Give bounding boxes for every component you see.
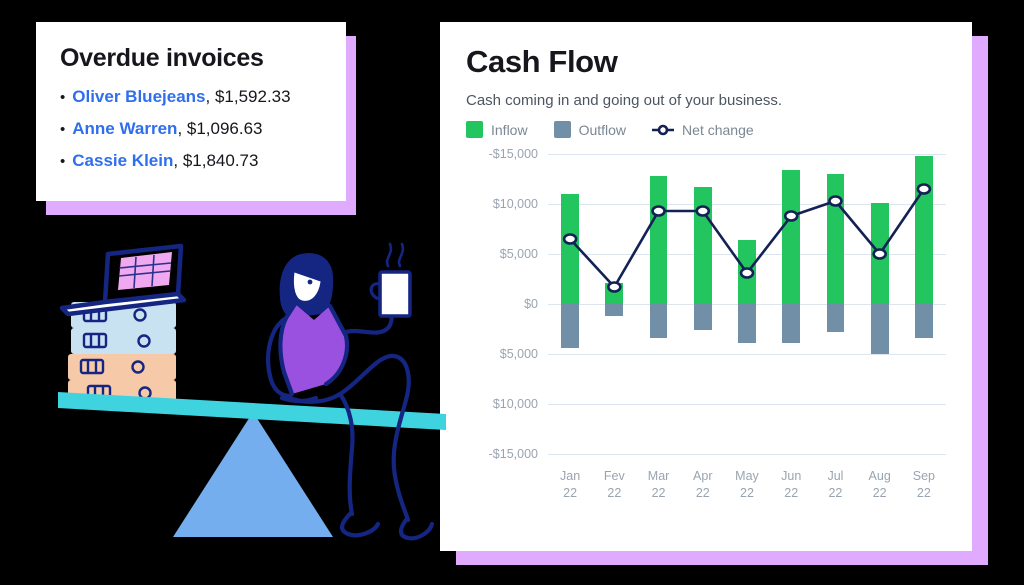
x-axis-tick-label: Fev22 [592, 468, 636, 502]
list-item[interactable]: • Cassie Klein , $1,840.73 [60, 151, 322, 171]
triangle-fulcrum-icon [173, 412, 333, 537]
net-change-point[interactable] [697, 207, 709, 216]
chart-legend: Inflow Outflow Net change [466, 121, 946, 138]
bullet-icon: • [60, 90, 65, 105]
gridline [548, 454, 946, 455]
x-axis-tick-label: Jun22 [769, 468, 813, 502]
y-axis-tick-label: $10,000 [493, 397, 538, 411]
net-change-point[interactable] [608, 283, 620, 292]
y-axis-tick-label: $10,000 [493, 197, 538, 211]
page-title: Overdue invoices [60, 44, 322, 73]
x-axis-tick-label: Apr22 [681, 468, 725, 502]
list-item[interactable]: • Anne Warren , $1,096.63 [60, 119, 322, 139]
y-axis-tick-label: $0 [524, 297, 538, 311]
net-change-point[interactable] [874, 250, 886, 259]
overdue-invoices-list: • Oliver Bluejeans , $1,592.33 • Anne Wa… [60, 87, 322, 171]
x-axis-tick-label: May22 [725, 468, 769, 502]
chart-title: Cash Flow [466, 44, 946, 80]
invoice-customer-link[interactable]: Cassie Klein [72, 151, 173, 171]
chart-plot-wrapper: -$15,000$10,000$5,000$0$5,000$10,000-$15… [466, 146, 946, 516]
x-axis-tick-label: Sep22 [902, 468, 946, 502]
legend-item-net-change[interactable]: Net change [652, 122, 754, 138]
invoice-customer-link[interactable]: Anne Warren [72, 119, 177, 139]
invoice-amount: , $1,096.63 [177, 119, 262, 139]
invoice-customer-link[interactable]: Oliver Bluejeans [72, 87, 205, 107]
legend-label: Inflow [491, 122, 528, 138]
y-axis-tick-label: -$15,000 [489, 447, 538, 461]
invoice-amount: , $1,592.33 [206, 87, 291, 107]
net-change-point[interactable] [918, 185, 930, 194]
invoice-amount: , $1,840.73 [173, 151, 258, 171]
net-change-point[interactable] [785, 212, 797, 221]
x-axis-tick-label: Aug22 [858, 468, 902, 502]
x-axis-tick-label: Jan22 [548, 468, 592, 502]
y-axis-tick-label: -$15,000 [489, 147, 538, 161]
y-axis-tick-label: $5,000 [500, 347, 538, 361]
square-swatch-icon [466, 121, 483, 138]
line-circle-marker-icon [652, 123, 674, 137]
bullet-icon: • [60, 154, 65, 169]
list-item[interactable]: • Oliver Bluejeans , $1,592.33 [60, 87, 322, 107]
legend-label: Net change [682, 122, 754, 138]
laptop-icon [62, 246, 184, 314]
net-change-point[interactable] [741, 269, 753, 278]
chart-plot-area: -$15,000$10,000$5,000$0$5,000$10,000-$15… [548, 154, 946, 454]
dashboard-canvas: Overdue invoices • Oliver Bluejeans , $1… [0, 0, 1024, 585]
bullet-icon: • [60, 122, 65, 137]
y-axis-tick-label: $5,000 [500, 247, 538, 261]
x-axis-tick-label: Jul22 [813, 468, 857, 502]
overdue-invoices-card: Overdue invoices • Oliver Bluejeans , $1… [36, 22, 346, 201]
net-change-point[interactable] [564, 235, 576, 244]
legend-item-inflow[interactable]: Inflow [466, 121, 528, 138]
cash-flow-card: Cash Flow Cash coming in and going out o… [440, 22, 972, 551]
x-axis-tick-label: Mar22 [636, 468, 680, 502]
woman-on-seesaw-illustration [48, 232, 448, 552]
net-change-point[interactable] [829, 197, 841, 206]
legend-label: Outflow [579, 122, 626, 138]
net-change-point[interactable] [653, 207, 665, 216]
square-swatch-icon [554, 121, 571, 138]
chart-subtitle: Cash coming in and going out of your bus… [466, 92, 946, 109]
legend-item-outflow[interactable]: Outflow [554, 121, 626, 138]
chart-net-change-line-layer [548, 154, 946, 454]
